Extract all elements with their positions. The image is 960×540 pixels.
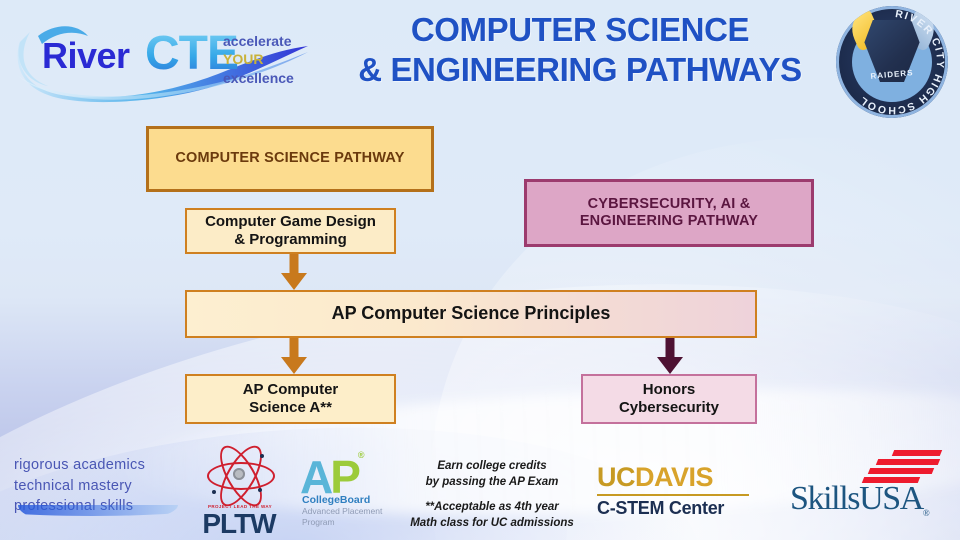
arrow-head (281, 357, 307, 374)
skillsusa-registered-mark: ® (923, 508, 928, 518)
ucdavis-wordmark: UCDAVIS (597, 462, 755, 493)
arrow-game-design-to-ap-csp (277, 254, 311, 290)
course-label-honors-cybersecurity: Honors Cybersecurity (619, 381, 719, 417)
course-box-ap-csp[interactable]: AP Computer Science Principles (185, 290, 757, 338)
footer-note: Earn college credits by passing the AP E… (396, 458, 588, 531)
cte-tagline-line2: technical mastery (14, 476, 145, 497)
skillsusa-name: SkillsUSA (790, 480, 923, 517)
arrow-stem (666, 338, 675, 358)
ap-csa-line1: AP Computer (243, 381, 339, 398)
logo-tagline: accelerate YOUR excellence (223, 32, 294, 87)
cyber-pathway-label-line2: ENGINEERING PATHWAY (580, 213, 758, 229)
course-label-ap-csp: AP Computer Science Principles (332, 303, 611, 325)
skillsusa-wordmark: SkillsUSA® (790, 480, 928, 518)
cte-tagline-line1: rigorous academics (14, 455, 145, 476)
game-design-line1: Computer Game Design (205, 213, 376, 230)
arrow-head (281, 273, 307, 290)
school-seal-logo: RAIDERS RIVER CITY HIGH SCHOOL (836, 6, 948, 118)
logo-tagline-line3: excellence (223, 69, 294, 87)
ucdavis-davis: DAVIS (635, 462, 713, 492)
footer-note-line4: Math class for UC admissions (396, 515, 588, 531)
skillsusa-logo: SkillsUSA® (855, 450, 960, 528)
atom-electron (260, 454, 264, 458)
page-title-line1: COMPUTER SCIENCE (330, 10, 830, 50)
cs-pathway-header-box[interactable]: COMPUTER SCIENCE PATHWAY (146, 126, 434, 192)
ap-csa-line2: Science A** (249, 399, 332, 416)
arrow-stem (290, 254, 299, 274)
ap-registered-mark: ® (358, 450, 362, 460)
collegeboard-subtitle-line2: Program (302, 517, 382, 528)
footer-note-line3: **Acceptable as 4th year (396, 499, 588, 515)
collegeboard-subtitle: Advanced Placement Program (302, 506, 382, 527)
course-label-game-design: Computer Game Design & Programming (205, 213, 376, 249)
footer-note-line1: Earn college credits (396, 458, 588, 474)
pltw-acronym: PLTW (192, 508, 286, 540)
ucdavis-cstem-logo: UCDAVIS C-STEM Center (597, 462, 755, 520)
footer-note-spacer (396, 491, 588, 499)
ucdavis-center-name: C-STEM Center (597, 498, 755, 519)
atom-nucleus-gear-icon (233, 468, 245, 480)
skillsusa-stripes-icon (863, 450, 941, 484)
footer-note-line2: by passing the AP Exam (396, 474, 588, 490)
svg-text:RIVER CITY HIGH SCHOOL: RIVER CITY HIGH SCHOOL (857, 8, 947, 116)
course-label-ap-csa: AP Computer Science A** (243, 381, 339, 417)
honors-cyber-line2: Cybersecurity (619, 399, 719, 416)
logo-word-river: River (42, 35, 130, 77)
ucdavis-uc: UC (597, 462, 635, 492)
cyber-pathway-header-box[interactable]: CYBERSECURITY, AI & ENGINEERING PATHWAY (524, 179, 814, 247)
atom-electron (258, 488, 262, 492)
game-design-line2: & Programming (234, 231, 347, 248)
river-cte-logo: River CTE accelerate YOUR excellence (8, 10, 328, 106)
cyber-pathway-header-label: CYBERSECURITY, AI & ENGINEERING PATHWAY (580, 196, 758, 231)
cyber-pathway-label-line1: CYBERSECURITY, AI & (588, 196, 751, 212)
ucdavis-rule (597, 494, 749, 496)
course-box-game-design[interactable]: Computer Game Design & Programming (185, 208, 396, 254)
atom-electron (212, 490, 216, 494)
logo-tagline-line1: accelerate (223, 32, 294, 50)
course-box-ap-csa[interactable]: AP Computer Science A** (185, 374, 396, 424)
arrow-ap-csp-to-ap-csa (277, 338, 311, 374)
atom-icon (204, 448, 274, 500)
arrow-stem (290, 338, 299, 358)
slide-canvas: River CTE accelerate YOUR excellence COM… (0, 0, 960, 540)
arrow-head (657, 357, 683, 374)
honors-cyber-line1: Honors (643, 381, 696, 398)
collegeboard-subtitle-line1: Advanced Placement (302, 506, 382, 517)
page-title-line2: & ENGINEERING PATHWAYS (330, 50, 830, 90)
collegeboard-ap-logo: AP® CollegeBoard Advanced Placement Prog… (300, 452, 402, 534)
pltw-logo: PROJECT LEAD THE WAY PLTW (192, 448, 286, 534)
logo-tagline-line2: YOUR (223, 50, 294, 68)
course-box-honors-cybersecurity[interactable]: Honors Cybersecurity (581, 374, 757, 424)
page-title: COMPUTER SCIENCE & ENGINEERING PATHWAYS (330, 10, 830, 91)
arrow-ap-csp-to-honors-cybersecurity (653, 338, 687, 374)
seal-ring-text-icon: RIVER CITY HIGH SCHOOL (836, 6, 948, 118)
cs-pathway-header-label: COMPUTER SCIENCE PATHWAY (175, 150, 404, 167)
collegeboard-name: CollegeBoard (302, 494, 370, 506)
